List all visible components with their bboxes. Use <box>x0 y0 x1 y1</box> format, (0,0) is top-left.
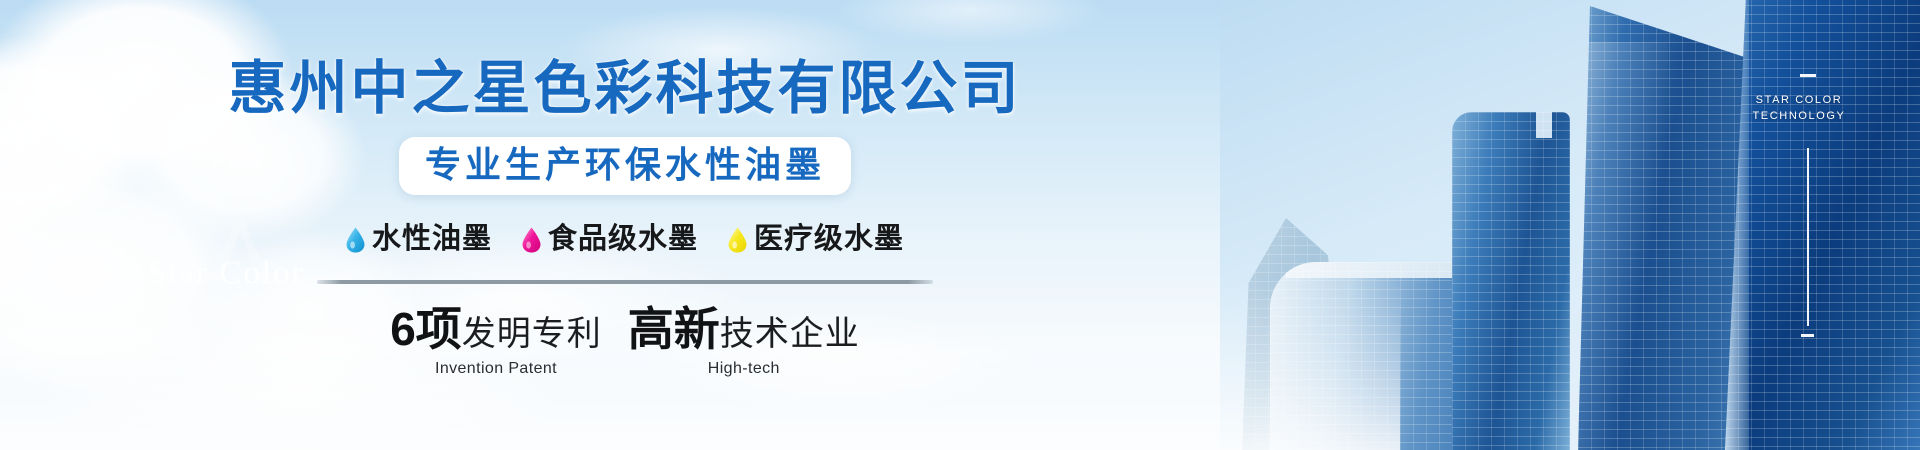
promotional-banner: STAR COLOR TECHNOLOGY Star Color 惠州中之星色彩… <box>0 0 1920 450</box>
banner-content: 惠州中之星色彩科技有限公司 专业生产环保水性油墨 <box>0 0 1250 450</box>
credential-rest: 发明专利 <box>462 317 602 351</box>
building-center-tower <box>1452 112 1570 450</box>
credential-main: 6项 发明专利 <box>390 306 602 352</box>
ink-product-label: 医疗级水墨 <box>754 225 904 254</box>
credential-english: Invention Patent <box>435 360 557 378</box>
water-drop-icon <box>728 227 747 253</box>
tagline-badge: 专业生产环保水性油墨 <box>399 137 851 195</box>
list-item: 医疗级水墨 <box>728 225 904 254</box>
page-title: 惠州中之星色彩科技有限公司 <box>228 58 1021 119</box>
brand-vertical-rule <box>1807 148 1809 326</box>
water-drop-icon <box>346 227 365 253</box>
list-item: 水性油墨 <box>346 225 492 254</box>
ink-product-label: 食品级水墨 <box>548 225 698 254</box>
tagline-label: 专业生产环保水性油墨 <box>425 146 825 184</box>
water-drop-icon <box>522 227 541 253</box>
credential-main: 高新 技术企业 <box>628 306 860 352</box>
credential-strong: 高新 <box>628 306 720 352</box>
ink-product-label: 水性油墨 <box>372 225 492 254</box>
brand-dash-bottom <box>1801 334 1814 337</box>
section-divider <box>317 280 933 284</box>
glass-highlight <box>1578 42 1668 450</box>
credential-list: 6项 发明专利 Invention Patent 高新 技术企业 High-te… <box>390 306 860 378</box>
credential-english: High-tech <box>708 360 780 378</box>
glass-grid <box>1452 112 1570 450</box>
credential-rest: 技术企业 <box>720 317 860 351</box>
building-right-tower <box>1725 0 1920 450</box>
brand-dash-top <box>1800 74 1816 77</box>
credential-strong: 6项 <box>390 306 462 352</box>
credential-item-hightech: 高新 技术企业 High-tech <box>628 306 860 378</box>
list-item: 食品级水墨 <box>522 225 698 254</box>
credential-item-patent: 6项 发明专利 Invention Patent <box>390 306 602 378</box>
glass-grid <box>1725 0 1920 450</box>
ink-product-list: 水性油墨 食品级水墨 <box>346 225 904 254</box>
tower-brand-text: STAR COLOR TECHNOLOGY <box>1724 92 1874 124</box>
tower-brand-line1: STAR COLOR <box>1724 92 1874 108</box>
tower-brand-line2: TECHNOLOGY <box>1724 108 1874 124</box>
